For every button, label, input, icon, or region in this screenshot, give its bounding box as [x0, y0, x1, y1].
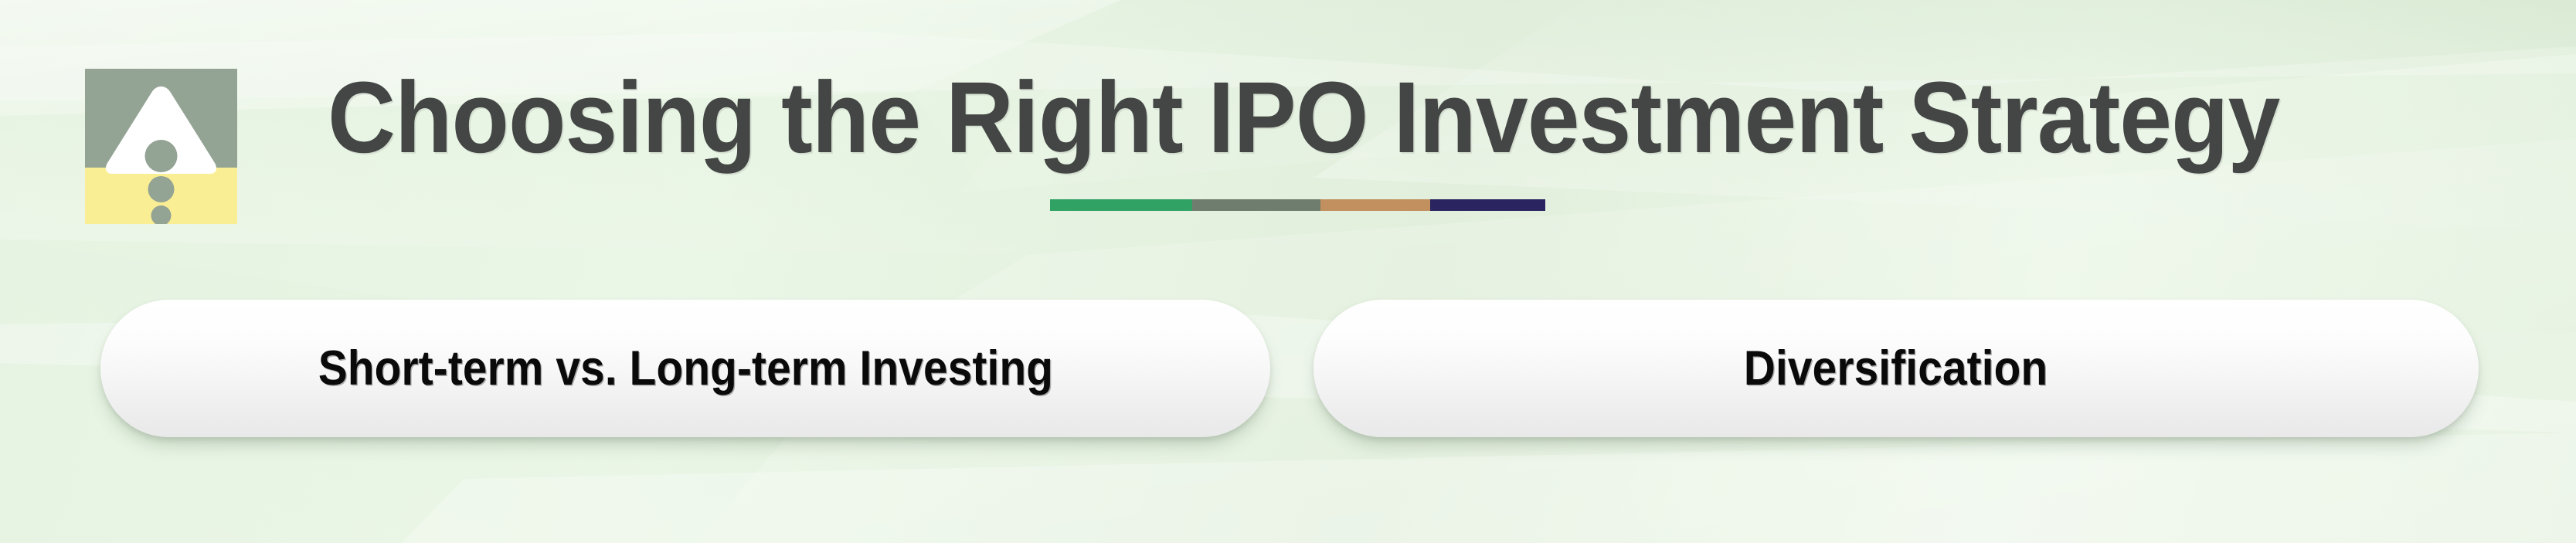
divider-segment-navy [1430, 199, 1545, 211]
divider-segment-sage [1192, 199, 1320, 211]
divider-segment-copper [1320, 199, 1430, 211]
pill-button-diversification[interactable]: Diversification [1313, 300, 2479, 437]
triangle-alert-icon [85, 69, 237, 224]
pill-label: Short-term vs. Long-term Investing [318, 341, 1052, 396]
divider-segment-green [1050, 199, 1192, 211]
pill-button-short-vs-long-term[interactable]: Short-term vs. Long-term Investing [100, 300, 1270, 437]
divider-bar [1050, 199, 1545, 211]
slide-canvas: Choosing the Right IPO Investment Strate… [0, 0, 2576, 543]
pill-label: Diversification [1744, 341, 2048, 396]
page-title: Choosing the Right IPO Investment Strate… [328, 66, 2279, 168]
logo-mark [85, 69, 237, 224]
